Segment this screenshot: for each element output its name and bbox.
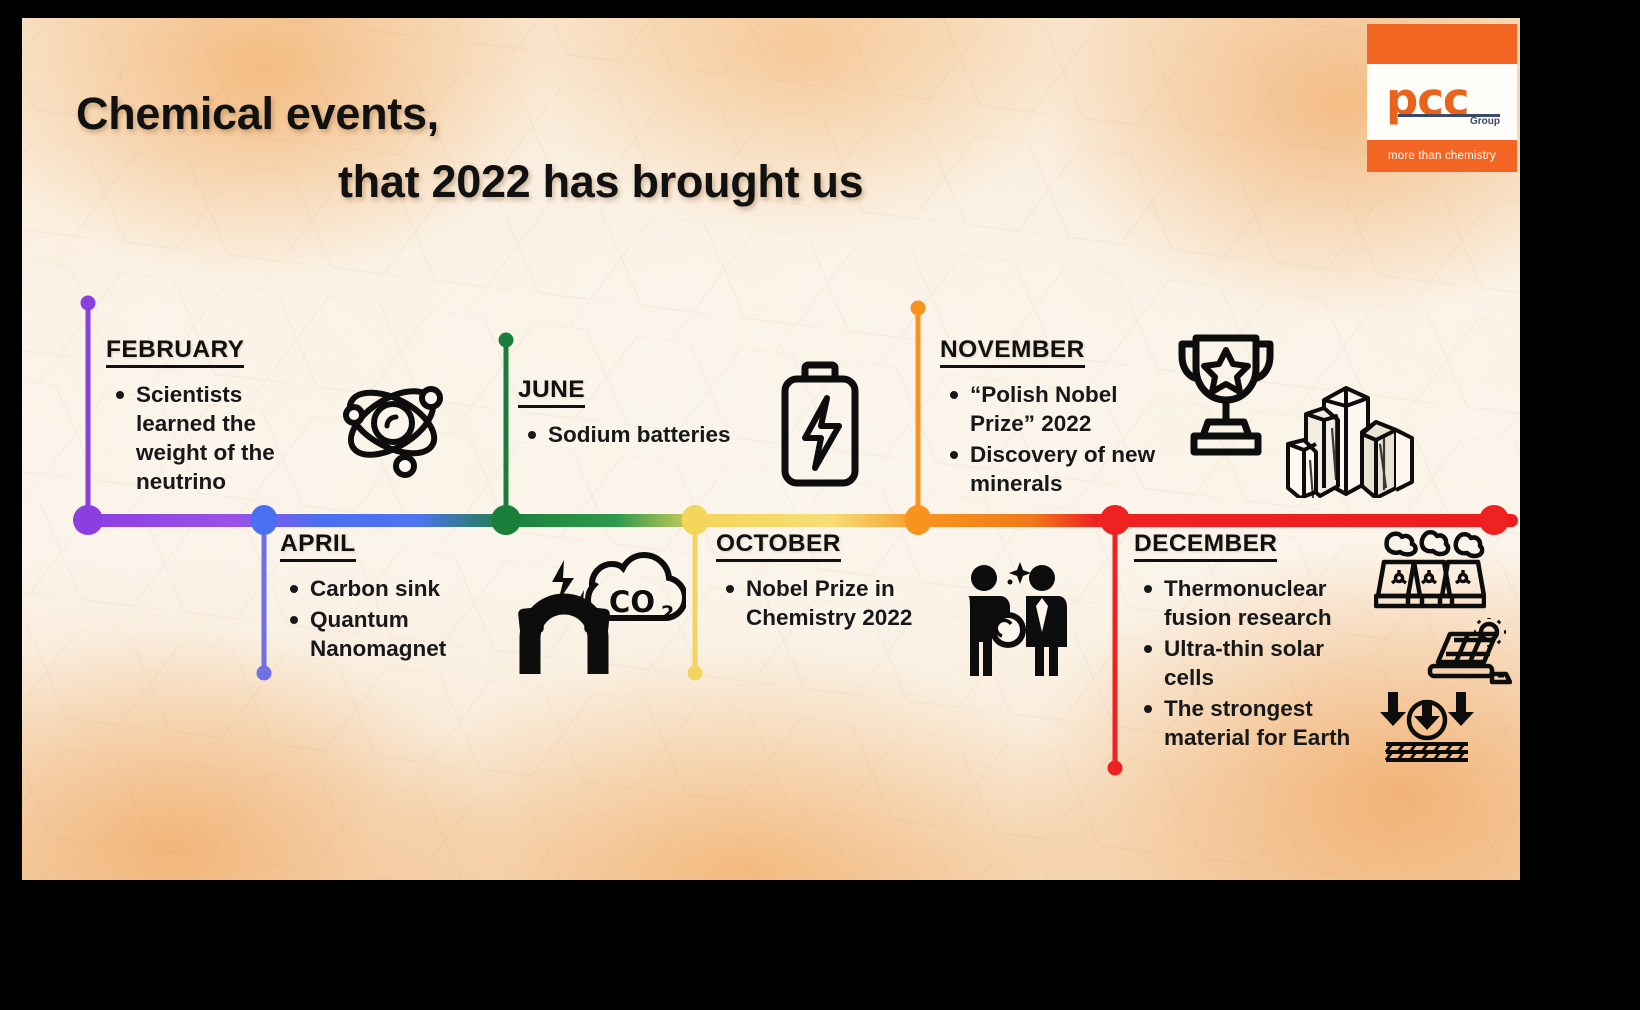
stem-dot-february [81,296,96,311]
logo-top-bar [1367,24,1517,64]
stem-november [916,306,921,522]
stem-december [1113,518,1118,770]
month-label-june: JUNE [518,376,585,408]
atom-icon [332,363,452,483]
nuclear-plant-icon [1374,530,1486,612]
stem-february [86,300,91,522]
timeline-node-start[interactable] [73,505,103,535]
stem-dot-november [911,301,926,316]
timeline-node-april[interactable] [251,505,278,535]
list-item: Scientists learned the weight of the neu… [136,380,321,496]
list-item: Ultra-thin solar cells [1164,634,1374,692]
logo-wordmark-panel: pcc Group [1367,64,1517,140]
co2-magnet-icon: CO 2 [514,546,686,688]
entry-november: NOVEMBER “Polish Nobel Prize” 2022 Disco… [940,336,1170,500]
entry-october: OCTOBER Nobel Prize in Chemistry 2022 [716,530,961,634]
timeline-node-december[interactable] [1100,505,1130,535]
list-item: The strongest material for Earth [1164,694,1374,752]
logo-tagline: more than chemistry [1367,140,1517,172]
list-item: Nobel Prize in Chemistry 2022 [746,574,961,632]
list-item: Discovery of new minerals [970,440,1170,498]
solar-panel-icon [1420,618,1512,688]
battery-icon [777,360,863,490]
list-item: Quantum Nanomagnet [310,605,510,663]
compression-arrows-icon [1374,690,1480,766]
slide-canvas: Chemical events, that 2022 has brought u… [22,18,1520,880]
pcc-logo[interactable]: pcc Group more than chemistry [1367,24,1517,172]
month-label-october: OCTOBER [716,530,841,562]
entry-april: APRIL Carbon sink Quantum Nanomagnet [280,530,510,665]
logo-group-label: Group [1470,116,1500,127]
month-label-february: FEBRUARY [106,336,244,368]
crystals-icon [1284,370,1416,498]
bullets-october: Nobel Prize in Chemistry 2022 [716,574,961,632]
month-label-november: NOVEMBER [940,336,1085,368]
stem-october [693,518,698,676]
bullets-june: Sodium batteries [518,420,778,449]
entry-december: DECEMBER Thermonuclear fusion research U… [1134,530,1374,754]
list-item: “Polish Nobel Prize” 2022 [970,380,1170,438]
list-item: Thermonuclear fusion research [1164,574,1374,632]
month-label-april: APRIL [280,530,356,562]
title-line-1: Chemical events, [76,88,439,139]
title-line-2: that 2022 has brought us [338,148,1076,216]
stem-dot-october [688,666,703,681]
nobel-laureates-icon [960,556,1068,676]
svg-text:CO: CO [609,585,655,619]
bullets-february: Scientists learned the weight of the neu… [106,380,321,496]
logo-wordmark: pcc [1386,72,1469,128]
entry-february: FEBRUARY Scientists learned the weight o… [106,336,321,498]
timeline-node-october[interactable] [682,505,709,535]
month-label-december: DECEMBER [1134,530,1277,562]
timeline-axis [88,514,1518,527]
list-item: Carbon sink [310,574,510,603]
page-title: Chemical events, that 2022 has brought u… [76,80,1076,217]
stem-dot-april [257,666,272,681]
stem-june [504,340,509,522]
stem-dot-december [1108,761,1123,776]
svg-text:2: 2 [661,602,674,624]
entry-june: JUNE Sodium batteries [518,376,778,451]
trophy-icon [1172,326,1280,466]
bullets-december: Thermonuclear fusion research Ultra-thin… [1134,574,1374,752]
stem-april [262,518,267,676]
list-item: Sodium batteries [548,420,778,449]
stem-dot-june [499,333,514,348]
bullets-november: “Polish Nobel Prize” 2022 Discovery of n… [940,380,1170,498]
bullets-april: Carbon sink Quantum Nanomagnet [280,574,510,663]
